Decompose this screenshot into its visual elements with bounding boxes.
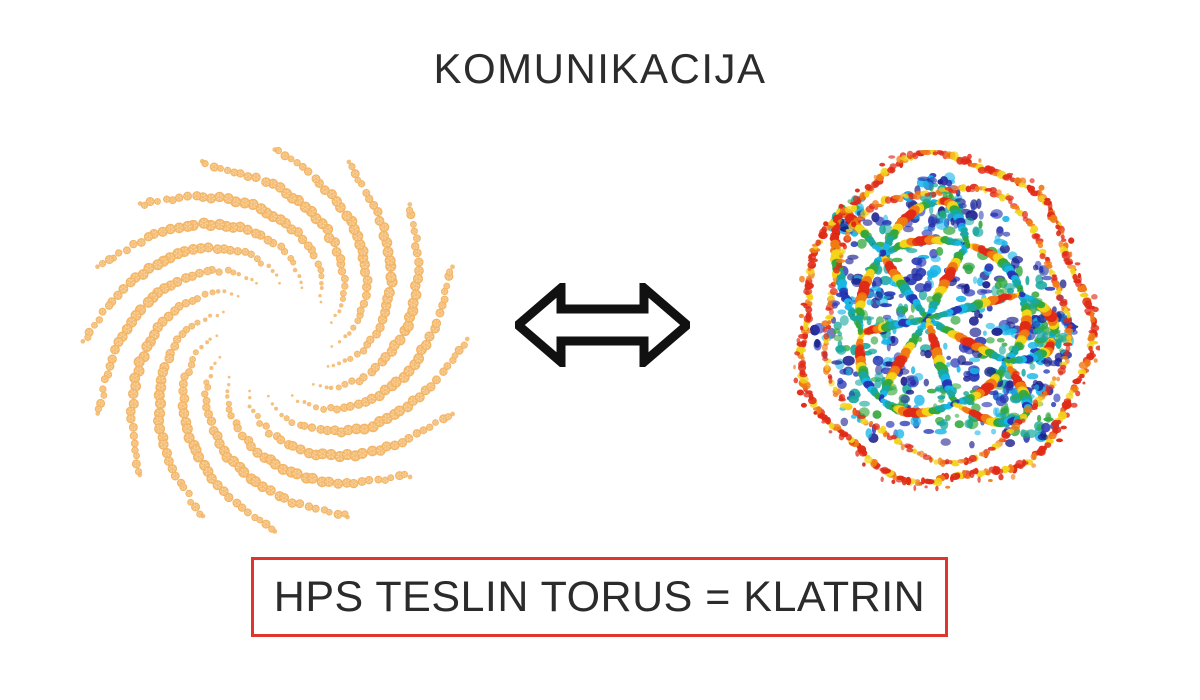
torus-dot	[171, 342, 179, 350]
torus-dot	[258, 261, 263, 266]
cage-interior-density	[980, 289, 992, 293]
torus-dot	[126, 278, 135, 287]
torus-spiral-graphic	[78, 138, 478, 538]
torus-dot	[304, 242, 312, 250]
torus-dot	[164, 196, 170, 202]
torus-dot	[288, 255, 294, 261]
cage-interior-density	[986, 337, 995, 343]
cage-interior-density	[834, 335, 843, 342]
torus-dot	[347, 331, 352, 336]
torus-dot	[450, 412, 455, 417]
torus-dot	[201, 514, 206, 519]
cage-interior-density	[946, 180, 953, 187]
torus-dot	[307, 402, 312, 407]
torus-dot	[308, 474, 317, 483]
cage-interior-density	[1011, 331, 1016, 338]
cage-interior-density	[901, 377, 908, 386]
cage-rim-spike	[1075, 262, 1081, 265]
torus-dot	[199, 218, 209, 228]
torus-dot	[289, 420, 295, 426]
cage-interior-density	[1059, 348, 1064, 352]
torus-dot	[347, 160, 352, 165]
cage-interior-density	[1042, 276, 1053, 280]
cage-inner-ring-segment	[1055, 291, 1062, 295]
torus-dot	[181, 373, 188, 380]
cage-rim-spike	[1091, 294, 1098, 300]
cage-interior-density	[999, 346, 1006, 355]
torus-dot	[299, 163, 306, 170]
cage-interior-density	[1002, 388, 1006, 393]
torus-dot	[315, 261, 321, 267]
torus-dot	[367, 336, 374, 343]
cage-rim-segment	[950, 475, 954, 482]
clathrin-leg-segment	[1003, 358, 1008, 362]
cage-inner-ring-segment	[1058, 371, 1063, 376]
torus-dot	[278, 243, 285, 250]
torus-dot	[189, 323, 195, 329]
torus-dot	[325, 233, 334, 242]
cage-interior-density	[859, 401, 870, 407]
cage-rim-spike	[1039, 185, 1045, 191]
torus-dot	[444, 283, 450, 289]
cage-interior-density	[923, 429, 934, 434]
torus-dot	[360, 374, 367, 381]
cage-interior-density	[906, 390, 914, 395]
torus-dot	[138, 201, 143, 206]
cage-inner-ring-segment	[979, 452, 983, 456]
cage-interior-density	[928, 216, 935, 226]
torus-dot	[275, 273, 278, 276]
torus-dot	[257, 517, 263, 523]
torus-dot	[340, 290, 346, 296]
torus-dot	[414, 354, 423, 363]
cage-rim-segment	[1080, 293, 1089, 297]
cage-interior-density	[970, 368, 980, 375]
torus-dot	[318, 267, 324, 273]
torus-dot	[155, 198, 161, 204]
cage-rim-spike	[800, 326, 803, 331]
cage-inner-ring-segment	[1030, 229, 1036, 234]
torus-dot	[385, 288, 394, 297]
torus-dot	[202, 291, 208, 297]
clathrin-leg-shadow	[849, 302, 851, 304]
cage-inner-ring-segment	[840, 403, 848, 409]
torus-dot	[343, 358, 348, 363]
slide-canvas: KOMUNIKACIJA HPS TESLIN TORUS = KLATRIN	[0, 0, 1200, 700]
cage-rim-segment	[835, 215, 841, 219]
torus-dot	[351, 325, 356, 330]
cage-interior-density	[831, 360, 842, 364]
torus-dot	[209, 374, 214, 379]
torus-dot	[360, 348, 366, 354]
torus-dot	[305, 503, 312, 510]
torus-dot	[156, 399, 166, 409]
torus-dot	[127, 415, 135, 423]
torus-dot	[203, 317, 208, 322]
cage-rim-segment	[1079, 361, 1089, 369]
torus-dot	[215, 220, 225, 230]
torus-dot	[422, 341, 431, 350]
cage-rim-spike	[888, 155, 895, 159]
cage-rim-segment	[1056, 230, 1061, 236]
cage-interior-density	[924, 182, 933, 190]
cage-interior-density	[845, 258, 854, 264]
torus-dot	[250, 278, 253, 281]
torus-dot	[218, 356, 221, 359]
torus-dot	[92, 322, 98, 328]
torus-dot	[225, 394, 230, 399]
cage-interior-density	[867, 316, 872, 325]
torus-dot	[301, 286, 304, 289]
torus-dot	[216, 269, 222, 275]
cage-interior-density	[1051, 402, 1056, 407]
torus-dot	[132, 460, 140, 468]
torus-dot	[145, 233, 153, 241]
torus-dot	[444, 363, 451, 370]
torus-dot	[248, 390, 251, 393]
cage-interior-density	[974, 430, 980, 435]
clathrin-leg-segment	[926, 319, 931, 323]
cage-rim-spike	[924, 485, 927, 488]
torus-dot	[244, 173, 252, 181]
cage-rim-spike	[913, 485, 916, 491]
torus-dot	[333, 314, 336, 317]
torus-dot	[138, 239, 146, 247]
torus-dot	[349, 378, 355, 384]
torus-dot	[358, 478, 366, 486]
cage-interior-density	[936, 247, 943, 256]
cage-interior-density	[884, 291, 896, 296]
cage-interior-density	[936, 222, 948, 230]
torus-dot	[95, 406, 101, 412]
cage-interior-density	[837, 309, 846, 314]
cage-interior-density	[1002, 216, 1009, 222]
cage-rim-segment	[816, 406, 821, 415]
cage-rim-segment	[800, 360, 806, 366]
torus-dot	[330, 345, 333, 348]
torus-dot	[207, 417, 215, 425]
cage-interior-density	[955, 420, 964, 428]
cage-interior-density	[1028, 342, 1039, 349]
cage-rim-spike	[797, 338, 801, 343]
torus-dot	[357, 307, 364, 314]
arrow-shape	[518, 288, 687, 362]
torus-dot	[228, 376, 231, 379]
torus-dot	[386, 272, 396, 282]
cage-interior-density	[969, 441, 975, 448]
torus-dot	[262, 178, 270, 186]
torus-dot	[267, 395, 270, 398]
torus-dot	[96, 317, 102, 323]
cage-inner-ring-segment	[1038, 243, 1043, 249]
cage-inner-ring-segment	[833, 281, 837, 286]
torus-dot	[338, 340, 341, 343]
torus-dot	[111, 345, 119, 353]
torus-dot	[450, 264, 455, 269]
cage-inner-ring-segment	[836, 259, 845, 263]
torus-dot	[244, 509, 251, 516]
torus-dot	[226, 407, 232, 413]
cage-interior-density	[958, 203, 966, 208]
torus-dot	[410, 222, 416, 228]
torus-dot	[225, 493, 233, 501]
cage-rim-spike	[1096, 346, 1100, 351]
cage-interior-density	[851, 241, 858, 247]
torus-dot	[433, 376, 441, 384]
cage-rim-segment	[802, 340, 807, 344]
torus-dot	[296, 400, 299, 403]
torus-dot	[395, 335, 404, 344]
cage-rim-segment	[879, 468, 885, 472]
cage-interior-density	[995, 407, 1000, 417]
cage-inner-ring-segment	[951, 190, 958, 194]
torus-dot	[216, 289, 221, 294]
torus-dot	[255, 282, 258, 285]
cage-rim-spike	[855, 189, 860, 193]
torus-dot	[215, 192, 224, 201]
cage-inner-ring-segment	[1046, 264, 1053, 269]
torus-dot	[461, 342, 467, 348]
cage-rim-spike	[891, 480, 895, 484]
torus-dot	[224, 194, 233, 203]
cage-interior-density	[1011, 395, 1018, 399]
torus-dot	[336, 385, 341, 390]
cage-interior-density	[976, 199, 981, 210]
torus-dot	[321, 406, 327, 412]
torus-dot	[124, 247, 131, 254]
torus-dot	[225, 267, 231, 273]
cage-interior-density	[873, 356, 884, 366]
torus-dot	[155, 424, 164, 433]
torus-dot	[404, 321, 414, 331]
cage-inner-ring-segment	[1024, 410, 1033, 413]
cage-rim-spike	[823, 221, 828, 226]
torus-dot	[81, 339, 86, 344]
cage-interior-density	[969, 316, 979, 325]
cage-interior-density	[994, 239, 1006, 245]
cage-interior-density	[1045, 287, 1056, 291]
torus-dot	[412, 243, 419, 250]
torus-dot	[334, 406, 341, 413]
torus-dot	[291, 394, 294, 397]
torus-dot	[345, 515, 350, 520]
torus-dot	[318, 294, 321, 297]
cage-interior-density	[814, 339, 820, 348]
torus-dot	[225, 389, 229, 393]
torus-dot	[330, 321, 333, 324]
cage-rim-spike	[1082, 382, 1085, 385]
cage-interior-density	[1053, 394, 1060, 403]
torus-dot	[265, 430, 272, 437]
torus-dot	[175, 194, 182, 201]
torus-dot	[281, 152, 289, 160]
cage-interior-density	[867, 299, 873, 305]
cage-rim-spike	[988, 479, 993, 482]
torus-dot	[137, 473, 142, 478]
cage-inner-ring-segment	[928, 192, 932, 195]
torus-dot	[371, 363, 379, 371]
cage-rim-spike	[839, 204, 844, 209]
cage-rim-segment	[1077, 286, 1087, 293]
torus-dot	[95, 411, 100, 416]
torus-dot	[179, 409, 188, 418]
torus-dot	[244, 276, 248, 280]
torus-dot	[325, 385, 329, 389]
cage-inner-ring-segment	[894, 440, 902, 444]
cage-interior-density	[1000, 406, 1009, 414]
cage-rim-spike	[821, 421, 825, 424]
torus-dot	[171, 472, 179, 480]
cage-interior-density	[982, 281, 990, 288]
torus-dot	[134, 453, 140, 459]
cage-interior-density	[979, 313, 983, 318]
cage-rim-spike	[799, 314, 804, 318]
cage-interior-density	[1043, 357, 1052, 367]
torus-dot	[337, 361, 341, 365]
cage-rim-segment	[815, 240, 821, 246]
cage-inner-ring-segment	[904, 443, 912, 447]
torus-dot	[432, 319, 440, 327]
cage-rim-spike	[977, 477, 980, 483]
cage-inner-ring-segment	[828, 296, 835, 301]
torus-dot	[411, 290, 420, 299]
torus-dot	[391, 441, 399, 449]
cage-rim-spike	[801, 403, 807, 408]
cage-interior-density	[857, 239, 867, 249]
torus-dot	[213, 362, 216, 365]
torus-dot	[278, 282, 281, 285]
torus-dot	[346, 403, 354, 411]
torus-dot	[272, 147, 277, 152]
cage-rim-spike	[1056, 438, 1063, 442]
torus-dot	[332, 364, 335, 367]
torus-dot	[242, 248, 249, 255]
cage-interior-density	[848, 396, 859, 404]
cage-interior-density	[925, 281, 932, 288]
cage-interior-density	[846, 368, 852, 375]
cage-interior-density	[880, 303, 892, 307]
torus-dot	[105, 302, 112, 309]
cage-interior-density	[943, 343, 947, 350]
torus-dot	[207, 194, 216, 203]
cage-interior-density	[1043, 369, 1050, 373]
cage-inner-ring-segment	[917, 451, 921, 455]
torus-dot	[248, 404, 252, 408]
cage-inner-ring-segment	[851, 222, 856, 227]
torus-dot	[414, 274, 423, 283]
torus-dot	[204, 268, 211, 275]
torus-dot	[266, 264, 271, 269]
torus-dot	[293, 268, 298, 273]
caption-text: HPS TESLIN TORUS = KLATRIN	[274, 576, 925, 619]
cage-interior-density	[1037, 415, 1041, 422]
cage-interior-density	[892, 258, 903, 263]
torus-dot	[183, 222, 192, 231]
cage-interior-density	[871, 336, 879, 344]
cage-interior-density	[937, 395, 945, 399]
cage-interior-density	[920, 350, 926, 357]
torus-dot	[205, 384, 211, 390]
torus-dot	[343, 334, 347, 338]
torus-dot	[188, 362, 194, 368]
cage-interior-density	[886, 421, 895, 428]
torus-dot	[382, 442, 391, 451]
cage-inner-ring-segment	[1064, 328, 1073, 333]
torus-dot	[294, 160, 300, 166]
torus-dot	[252, 229, 260, 237]
torus-dot	[271, 269, 275, 273]
cage-inner-ring-segment	[845, 235, 851, 240]
cage-interior-density	[1033, 265, 1038, 271]
cage-rim-spike	[1030, 178, 1035, 183]
torus-dot	[302, 400, 306, 404]
cage-inner-ring-segment	[1056, 377, 1060, 382]
torus-dot	[292, 469, 302, 479]
torus-dot	[312, 175, 320, 183]
torus-dot	[130, 432, 137, 439]
cage-rim-spike	[855, 450, 859, 457]
torus-dot	[272, 529, 277, 534]
torus-dot	[142, 342, 152, 352]
cage-interior-density	[941, 176, 946, 182]
cage-interior-density	[1026, 429, 1037, 438]
cage-inner-ring-segment	[1001, 434, 1007, 438]
cage-interior-density	[986, 323, 995, 329]
torus-dot	[101, 376, 108, 383]
torus-dot	[208, 314, 212, 318]
cage-inner-ring-segment	[1008, 198, 1012, 204]
cage-interior-density	[956, 296, 966, 302]
torus-dot	[324, 477, 333, 486]
cage-inner-ring-segment	[1066, 318, 1072, 321]
torus-dot	[308, 424, 315, 431]
torus-dot	[205, 340, 209, 344]
cage-rim-spike	[829, 430, 833, 433]
torus-dot	[350, 480, 358, 488]
torus-dot	[413, 430, 420, 437]
torus-dot	[213, 245, 221, 253]
cage-interior-density	[900, 421, 911, 427]
torus-dot	[85, 334, 91, 340]
torus-dot	[363, 292, 371, 300]
torus-dot	[180, 484, 187, 491]
torus-dot	[99, 260, 105, 266]
torus-dot	[297, 274, 301, 278]
cage-interior-density	[837, 378, 843, 385]
torus-dot	[348, 356, 353, 361]
torus-dot	[262, 520, 270, 528]
torus-dot	[408, 475, 413, 480]
cage-interior-density	[881, 340, 892, 345]
torus-dot	[228, 413, 234, 419]
cage-inner-ring-segment	[852, 408, 856, 415]
cage-rim-spike	[998, 474, 1003, 480]
clathrin-leg-segment	[965, 244, 970, 248]
cage-rim-segment	[1072, 379, 1081, 384]
torus-dot	[230, 292, 233, 295]
cage-interior-density	[840, 315, 849, 326]
torus-dot	[414, 235, 421, 242]
cage-interior-density	[1033, 329, 1043, 334]
cage-rim-spike	[1068, 237, 1074, 243]
torus-dot	[415, 267, 423, 275]
cage-interior-density	[927, 269, 939, 278]
cage-rim-segment	[1090, 317, 1096, 322]
cage-inner-ring-segment	[830, 288, 838, 295]
torus-dot	[341, 275, 348, 282]
cage-rim-spike	[805, 291, 810, 295]
cage-interior-density	[978, 221, 982, 229]
